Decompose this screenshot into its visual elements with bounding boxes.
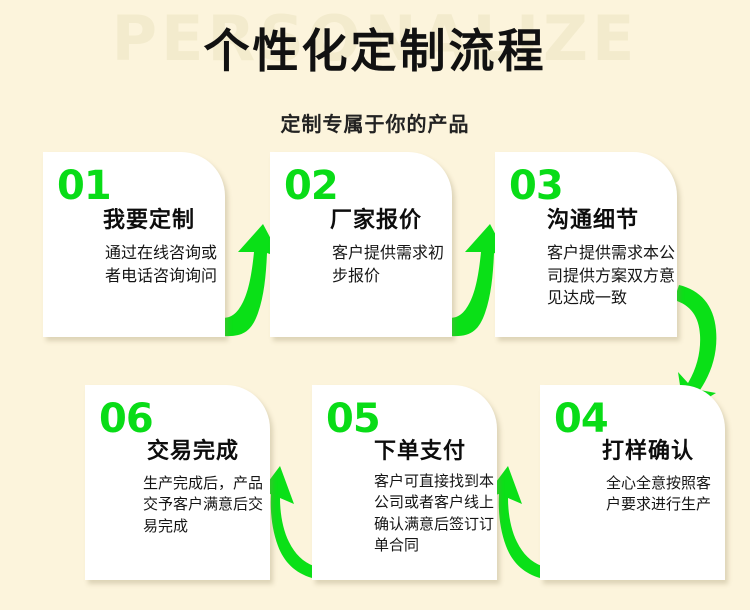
step-body-04: 全心全意按照客户要求进行生产	[606, 473, 718, 516]
step-card-03[interactable]: 03 沟通细节 客户提供需求本公司提供方案双方意见达成一致	[495, 152, 677, 337]
step-title-05: 下单支付	[374, 441, 466, 463]
step-card-05[interactable]: 05 下单支付 客户可直接找到本公司或者客户线上确认满意后签订订单合同	[312, 385, 497, 580]
step-body-06: 生产完成后，产品交予客户满意后交易完成	[143, 473, 267, 537]
step-body-03: 客户提供需求本公司提供方案双方意见达成一致	[547, 242, 677, 310]
step-title-02: 厂家报价	[330, 210, 422, 232]
step-title-01: 我要定制	[103, 210, 195, 232]
step-number-04: 04	[554, 399, 608, 439]
step-title-04: 打样确认	[602, 441, 694, 463]
step-number-02: 02	[284, 166, 338, 206]
step-body-02: 客户提供需求初步报价	[332, 242, 450, 287]
infographic-canvas: PERSONALIZE 个性化定制流程 定制专属于你的产品 01 我要定制	[0, 0, 750, 610]
step-number-05: 05	[326, 399, 380, 439]
step-card-02[interactable]: 02 厂家报价 客户提供需求初步报价	[270, 152, 452, 337]
page-subtitle: 定制专属于你的产品	[0, 108, 750, 137]
page-title: 个性化定制流程	[0, 26, 750, 78]
step-number-03: 03	[509, 166, 563, 206]
step-card-06[interactable]: 06 交易完成 生产完成后，产品交予客户满意后交易完成	[85, 385, 270, 580]
step-body-05: 客户可直接找到本公司或者客户线上确认满意后签订订单合同	[374, 471, 494, 556]
step-title-06: 交易完成	[147, 441, 239, 463]
step-number-06: 06	[99, 399, 153, 439]
step-body-01: 通过在线咨询或者电话咨询询问	[105, 242, 223, 287]
step-number-01: 01	[57, 166, 111, 206]
step-title-03: 沟通细节	[547, 210, 639, 232]
step-card-04[interactable]: 04 打样确认 全心全意按照客户要求进行生产	[540, 385, 725, 580]
step-card-01[interactable]: 01 我要定制 通过在线咨询或者电话咨询询问	[43, 152, 225, 337]
